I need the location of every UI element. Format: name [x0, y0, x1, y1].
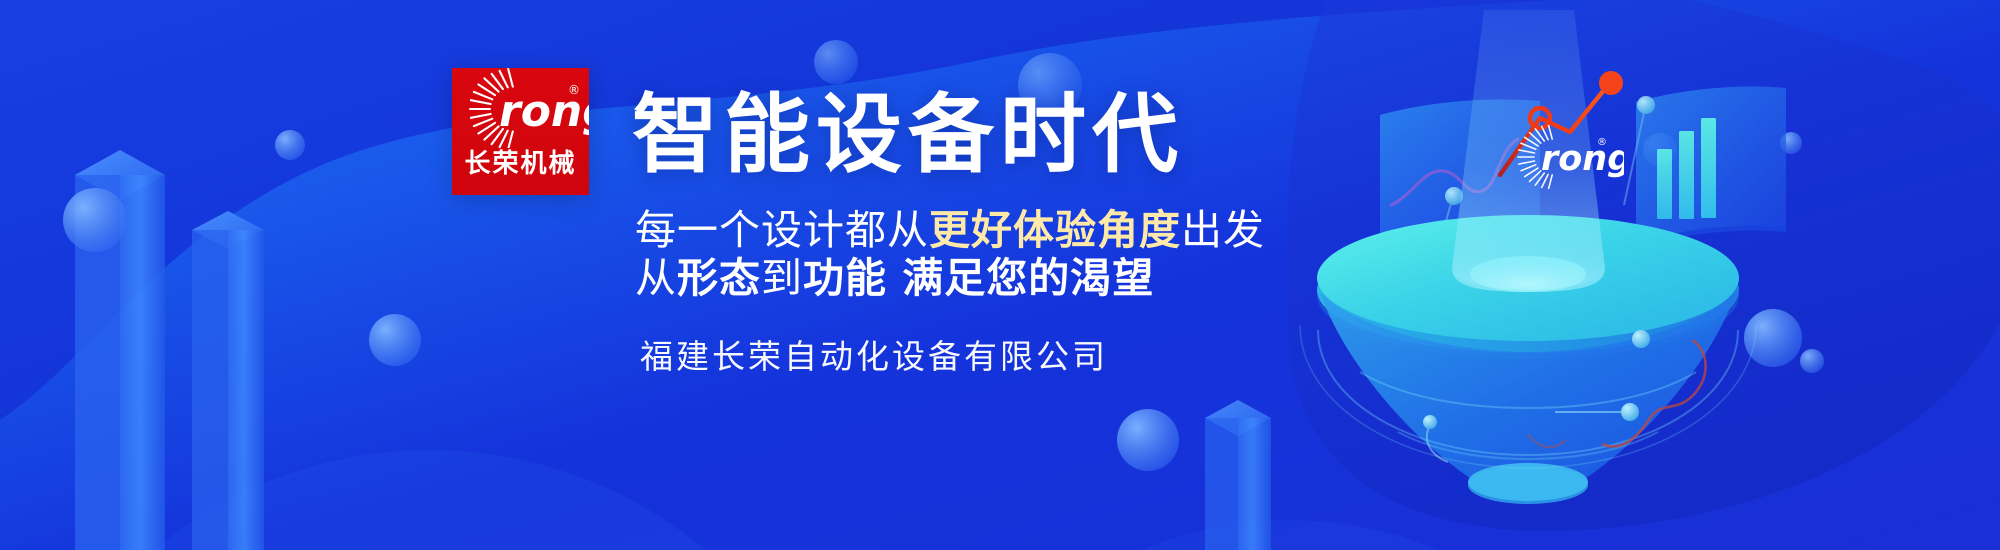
- sub1-post: 出发: [1181, 206, 1265, 254]
- company-logo: rong ® 长荣机械: [452, 68, 589, 195]
- rong-logo-mark: rong ®: [452, 68, 589, 148]
- sub2-seg5: 满足您的渴望: [887, 254, 1154, 302]
- banner-content: rong ® 长荣机械 智能设备时代 每一个设计都从更好体验角度出发 从形态到功…: [0, 0, 1340, 550]
- decor-sphere: [1800, 349, 1824, 373]
- beam-rong-logo: rong ®: [1504, 125, 1624, 189]
- decor-sphere: [1780, 132, 1802, 154]
- subheadline-line-1: 每一个设计都从更好体验角度出发: [635, 210, 1265, 251]
- sub2-seg1: 从: [635, 254, 677, 302]
- subheadline-line-2: 从形态到功能 满足您的渴望: [635, 258, 1154, 299]
- company-name: 福建长荣自动化设备有限公司: [640, 330, 1108, 378]
- logo-chinese-name: 长荣机械: [464, 151, 576, 177]
- bar-chart-bars: [1657, 118, 1716, 219]
- page-title: 智能设备时代: [632, 92, 1184, 178]
- sub1-pre: 每一个设计都从: [635, 206, 929, 254]
- decor-sphere: [1377, 282, 1403, 308]
- funnel-cone: [1320, 292, 1736, 504]
- promo-banner: rong ® 长荣机械 智能设备时代 每一个设计都从更好体验角度出发 从形态到功…: [0, 0, 2000, 550]
- bar-chart-panel: [1636, 87, 1786, 249]
- decor-sphere: [1744, 309, 1802, 367]
- cone-data-curves: [1423, 330, 1706, 462]
- sub2-seg2: 形态: [677, 254, 761, 302]
- sub1-highlight: 更好体验角度: [929, 206, 1181, 254]
- funnel-rim: [1317, 215, 1739, 359]
- trend-marker-filled: [1599, 71, 1623, 95]
- blob-shape-right: [1287, 0, 2000, 531]
- beam-rong-wordmark: rong: [1541, 139, 1624, 179]
- sub2-seg4: 功能: [803, 254, 887, 302]
- registered-mark: ®: [568, 83, 580, 97]
- beam-registered-mark: ®: [1597, 137, 1607, 148]
- decor-sphere: [1643, 133, 1677, 167]
- sub2-seg3: 到: [761, 254, 803, 302]
- orbit-rings: [1300, 325, 1756, 468]
- panel-line-chart: [1391, 139, 1518, 205]
